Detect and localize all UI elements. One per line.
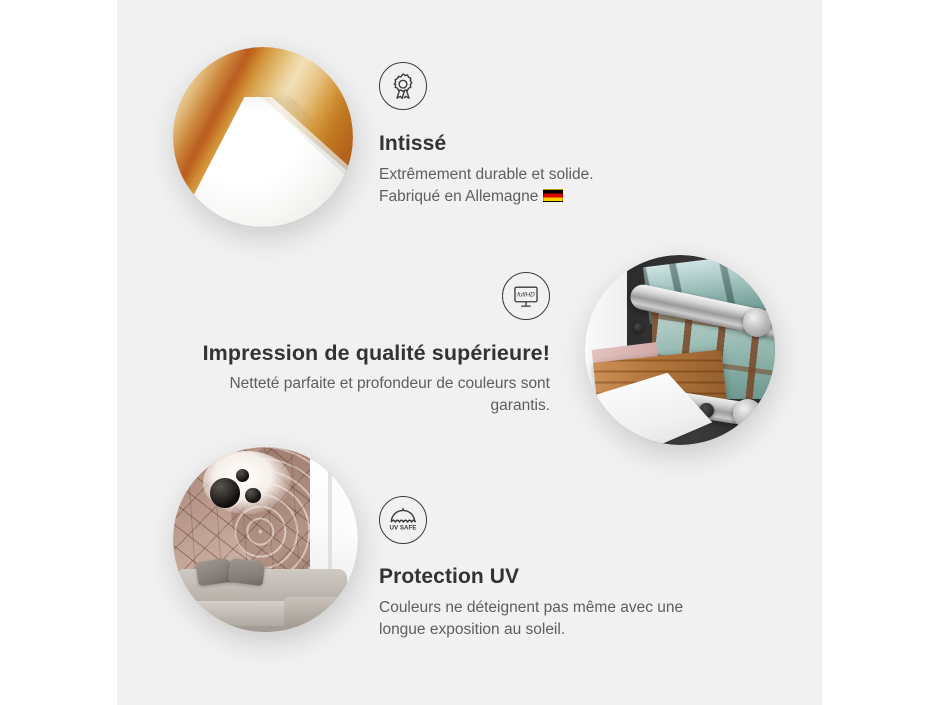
- feature-protection-uv: UV SAFE Protection UV Couleurs ne déteig…: [379, 496, 719, 641]
- feature-description-line: garantis.: [180, 395, 550, 417]
- award-rosette-icon: [379, 62, 427, 110]
- feature-description-line: Extrêmement durable et solide.: [379, 164, 709, 186]
- feature-description-line: longue exposition au soleil.: [379, 619, 719, 641]
- uv-safe-umbrella-icon: UV SAFE: [379, 496, 427, 544]
- feature-description: Extrêmement durable et solide. Fabriqué …: [379, 164, 709, 208]
- feature-title: Intissé: [379, 131, 709, 157]
- roller-disc: [743, 308, 772, 337]
- feature-description-line: Netteté parfaite et profondeur de couleu…: [180, 373, 550, 395]
- mural-dark-sphere: [210, 478, 240, 508]
- svg-text:UV SAFE: UV SAFE: [390, 525, 417, 532]
- feature-description: Couleurs ne déteignent pas même avec une…: [379, 597, 719, 641]
- feature-description-line-with-flag: Fabriqué en Allemagne: [379, 186, 709, 208]
- sofa-cushion: [227, 558, 265, 586]
- mural-dark-sphere: [245, 488, 261, 504]
- feature-description-text: Fabriqué en Allemagne: [379, 188, 538, 205]
- product-feature-infographic: Intissé Extrêmement durable et solide. F…: [0, 0, 940, 705]
- mural-dark-sphere: [236, 469, 249, 482]
- feature-title: Impression de qualité supérieure!: [180, 340, 550, 367]
- svg-text:fullHD: fullHD: [517, 292, 535, 299]
- press-knob: [634, 323, 643, 332]
- sofa-ottoman: [284, 597, 340, 628]
- wallpaper-peel-photo: [173, 47, 353, 227]
- german-flag-icon: [543, 189, 563, 202]
- living-room-mural-photo: [173, 447, 358, 632]
- roller-disc: [733, 399, 762, 428]
- printing-press-photo: [585, 255, 775, 445]
- feature-description: Netteté parfaite et profondeur de couleu…: [180, 373, 550, 417]
- fullhd-monitor-icon: fullHD: [502, 272, 550, 320]
- feature-intisse: Intissé Extrêmement durable et solide. F…: [379, 62, 709, 208]
- feature-title: Protection UV: [379, 564, 719, 590]
- feature-impression: fullHD Impression de qualité supérieure!…: [180, 272, 550, 417]
- feature-description-line: Couleurs ne déteignent pas même avec une: [379, 597, 719, 619]
